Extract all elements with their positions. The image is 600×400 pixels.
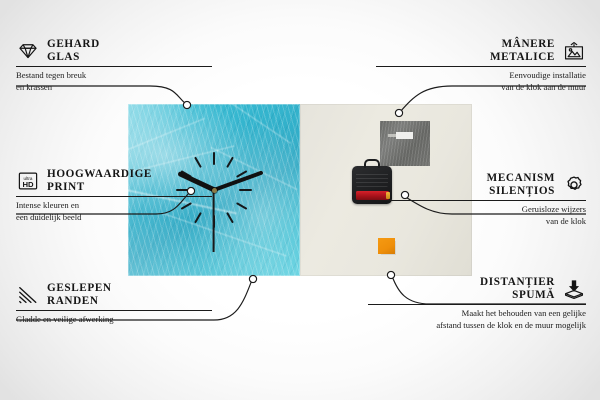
feature-description: Gladde en veilige afwerking: [16, 314, 212, 326]
feature-gehard-glas: GEHARD GLAS Bestand tegen breuk en krass…: [16, 38, 212, 93]
feature-manere-metalice: MÂNERE METALICE Eenvoudige installatie v…: [376, 38, 586, 93]
feature-header: GEHARD GLAS: [16, 38, 212, 64]
spacer-arrow-icon: [562, 278, 586, 300]
diamond-icon: [16, 40, 40, 62]
feature-description: Geruisloze wijzers van de klok: [376, 204, 586, 227]
feature-title: MÂNERE METALICE: [490, 38, 555, 64]
feature-title: DISTANȚIER SPUMĂ: [480, 276, 555, 302]
feature-header: MÂNERE METALICE: [376, 38, 586, 64]
foam-spacer: [378, 238, 395, 254]
feature-header: MECANISM SILENȚIOS: [376, 172, 586, 198]
gear-icon: [562, 174, 586, 196]
mechanism-loop: [364, 159, 380, 168]
feature-header: DISTANȚIER SPUMĂ: [368, 276, 586, 302]
svg-text:HD: HD: [22, 180, 34, 189]
ultra-hd-icon: ultra HD: [16, 170, 40, 192]
feature-header: ultra HD HOOGWAARDIGE PRINT: [16, 168, 212, 194]
feature-divider: [376, 200, 586, 201]
feature-mecanism-silentios: MECANISM SILENȚIOS Geruisloze wijzers va…: [376, 172, 586, 227]
leader-node-randen: [249, 275, 256, 282]
feature-distantier-spuma: DISTANȚIER SPUMĂ Maakt het behouden van …: [368, 276, 586, 331]
feature-title: MECANISM SILENȚIOS: [487, 172, 555, 198]
metal-hanger: [380, 121, 430, 166]
feature-divider: [376, 66, 586, 67]
feature-geslepen-randen: GESLEPEN RANDEN Gladde en veilige afwerk…: [16, 282, 212, 326]
bevelled-edge-icon: [16, 284, 40, 306]
feature-description: Bestand tegen breuk en krassen: [16, 70, 212, 93]
infographic-canvas: GEHARD GLAS Bestand tegen breuk en krass…: [0, 0, 600, 400]
feature-description: Maakt het behouden van een gelijke afsta…: [368, 308, 586, 331]
feature-title: GESLEPEN RANDEN: [47, 282, 112, 308]
picture-hanger-icon: [562, 40, 586, 62]
feature-divider: [368, 304, 586, 305]
feature-hoogwaardige-print: ultra HD HOOGWAARDIGE PRINT Intense kleu…: [16, 168, 212, 223]
feature-description: Intense kleuren en een duidelijk beeld: [16, 200, 212, 223]
feature-title: GEHARD GLAS: [47, 38, 100, 64]
feature-divider: [16, 310, 212, 311]
feature-header: GESLEPEN RANDEN: [16, 282, 212, 308]
hanger-slot: [396, 132, 413, 139]
feature-divider: [16, 66, 212, 67]
clock-second-hand: [213, 190, 215, 252]
feature-title: HOOGWAARDIGE PRINT: [47, 168, 152, 194]
clock-center-hub: [212, 188, 217, 193]
feature-description: Eenvoudige installatie van de klok aan d…: [376, 70, 586, 93]
feature-divider: [16, 196, 212, 197]
